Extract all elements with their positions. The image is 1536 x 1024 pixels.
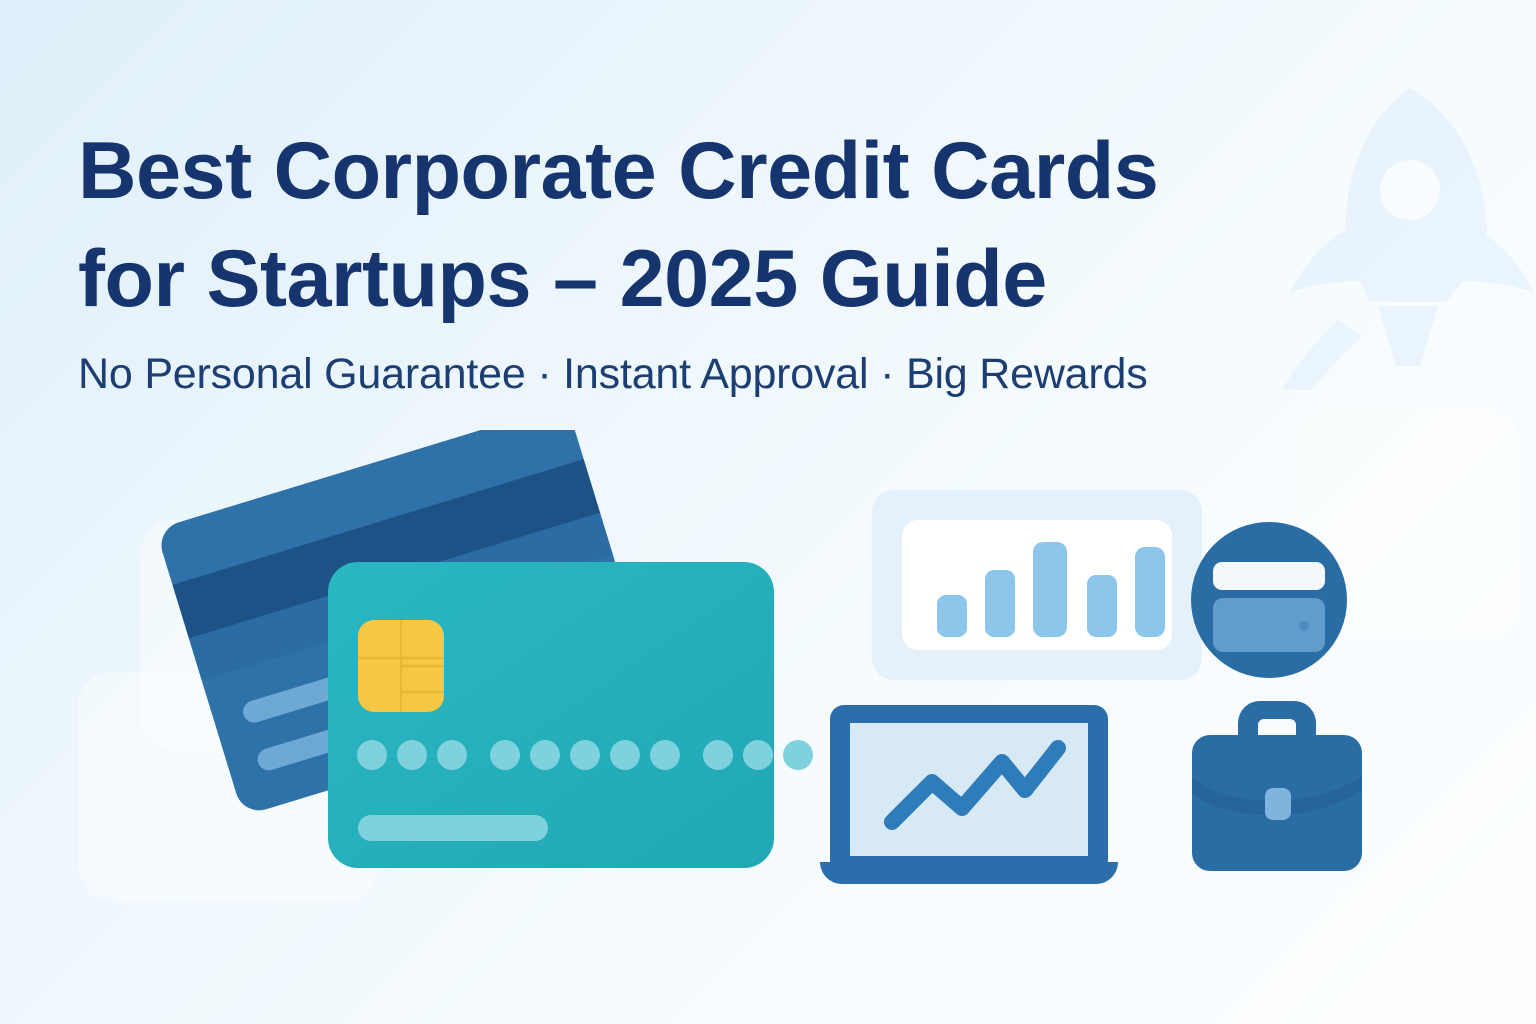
credit-cards-illustration (150, 430, 850, 910)
page-title: Best Corporate Credit Cards for Startups… (78, 118, 1338, 333)
page-title-line-1: Best Corporate Credit Cards (78, 126, 1158, 216)
bar-1 (937, 595, 967, 637)
page-title-line-2: for Startups – 2025 Guide (78, 234, 1047, 324)
credit-card-badge-circle (1191, 522, 1347, 678)
hero-text-block: Best Corporate Credit Cards for Startups… (78, 118, 1338, 401)
hero-banner: Best Corporate Credit Cards for Startups… (0, 0, 1536, 1024)
business-icons-illustration (810, 410, 1430, 910)
card-name-strip (358, 815, 548, 841)
laptop-with-growth-chart (820, 705, 1118, 884)
page-subtitle: No Personal Guarantee · Instant Approval… (78, 349, 1338, 401)
front-credit-card (328, 562, 813, 868)
bar-5 (1135, 547, 1165, 637)
briefcase-icon (1192, 701, 1362, 871)
bar-3 (1033, 542, 1067, 637)
card-chip-icon (358, 620, 444, 712)
bar-2 (985, 570, 1015, 637)
bar-4 (1087, 575, 1117, 637)
